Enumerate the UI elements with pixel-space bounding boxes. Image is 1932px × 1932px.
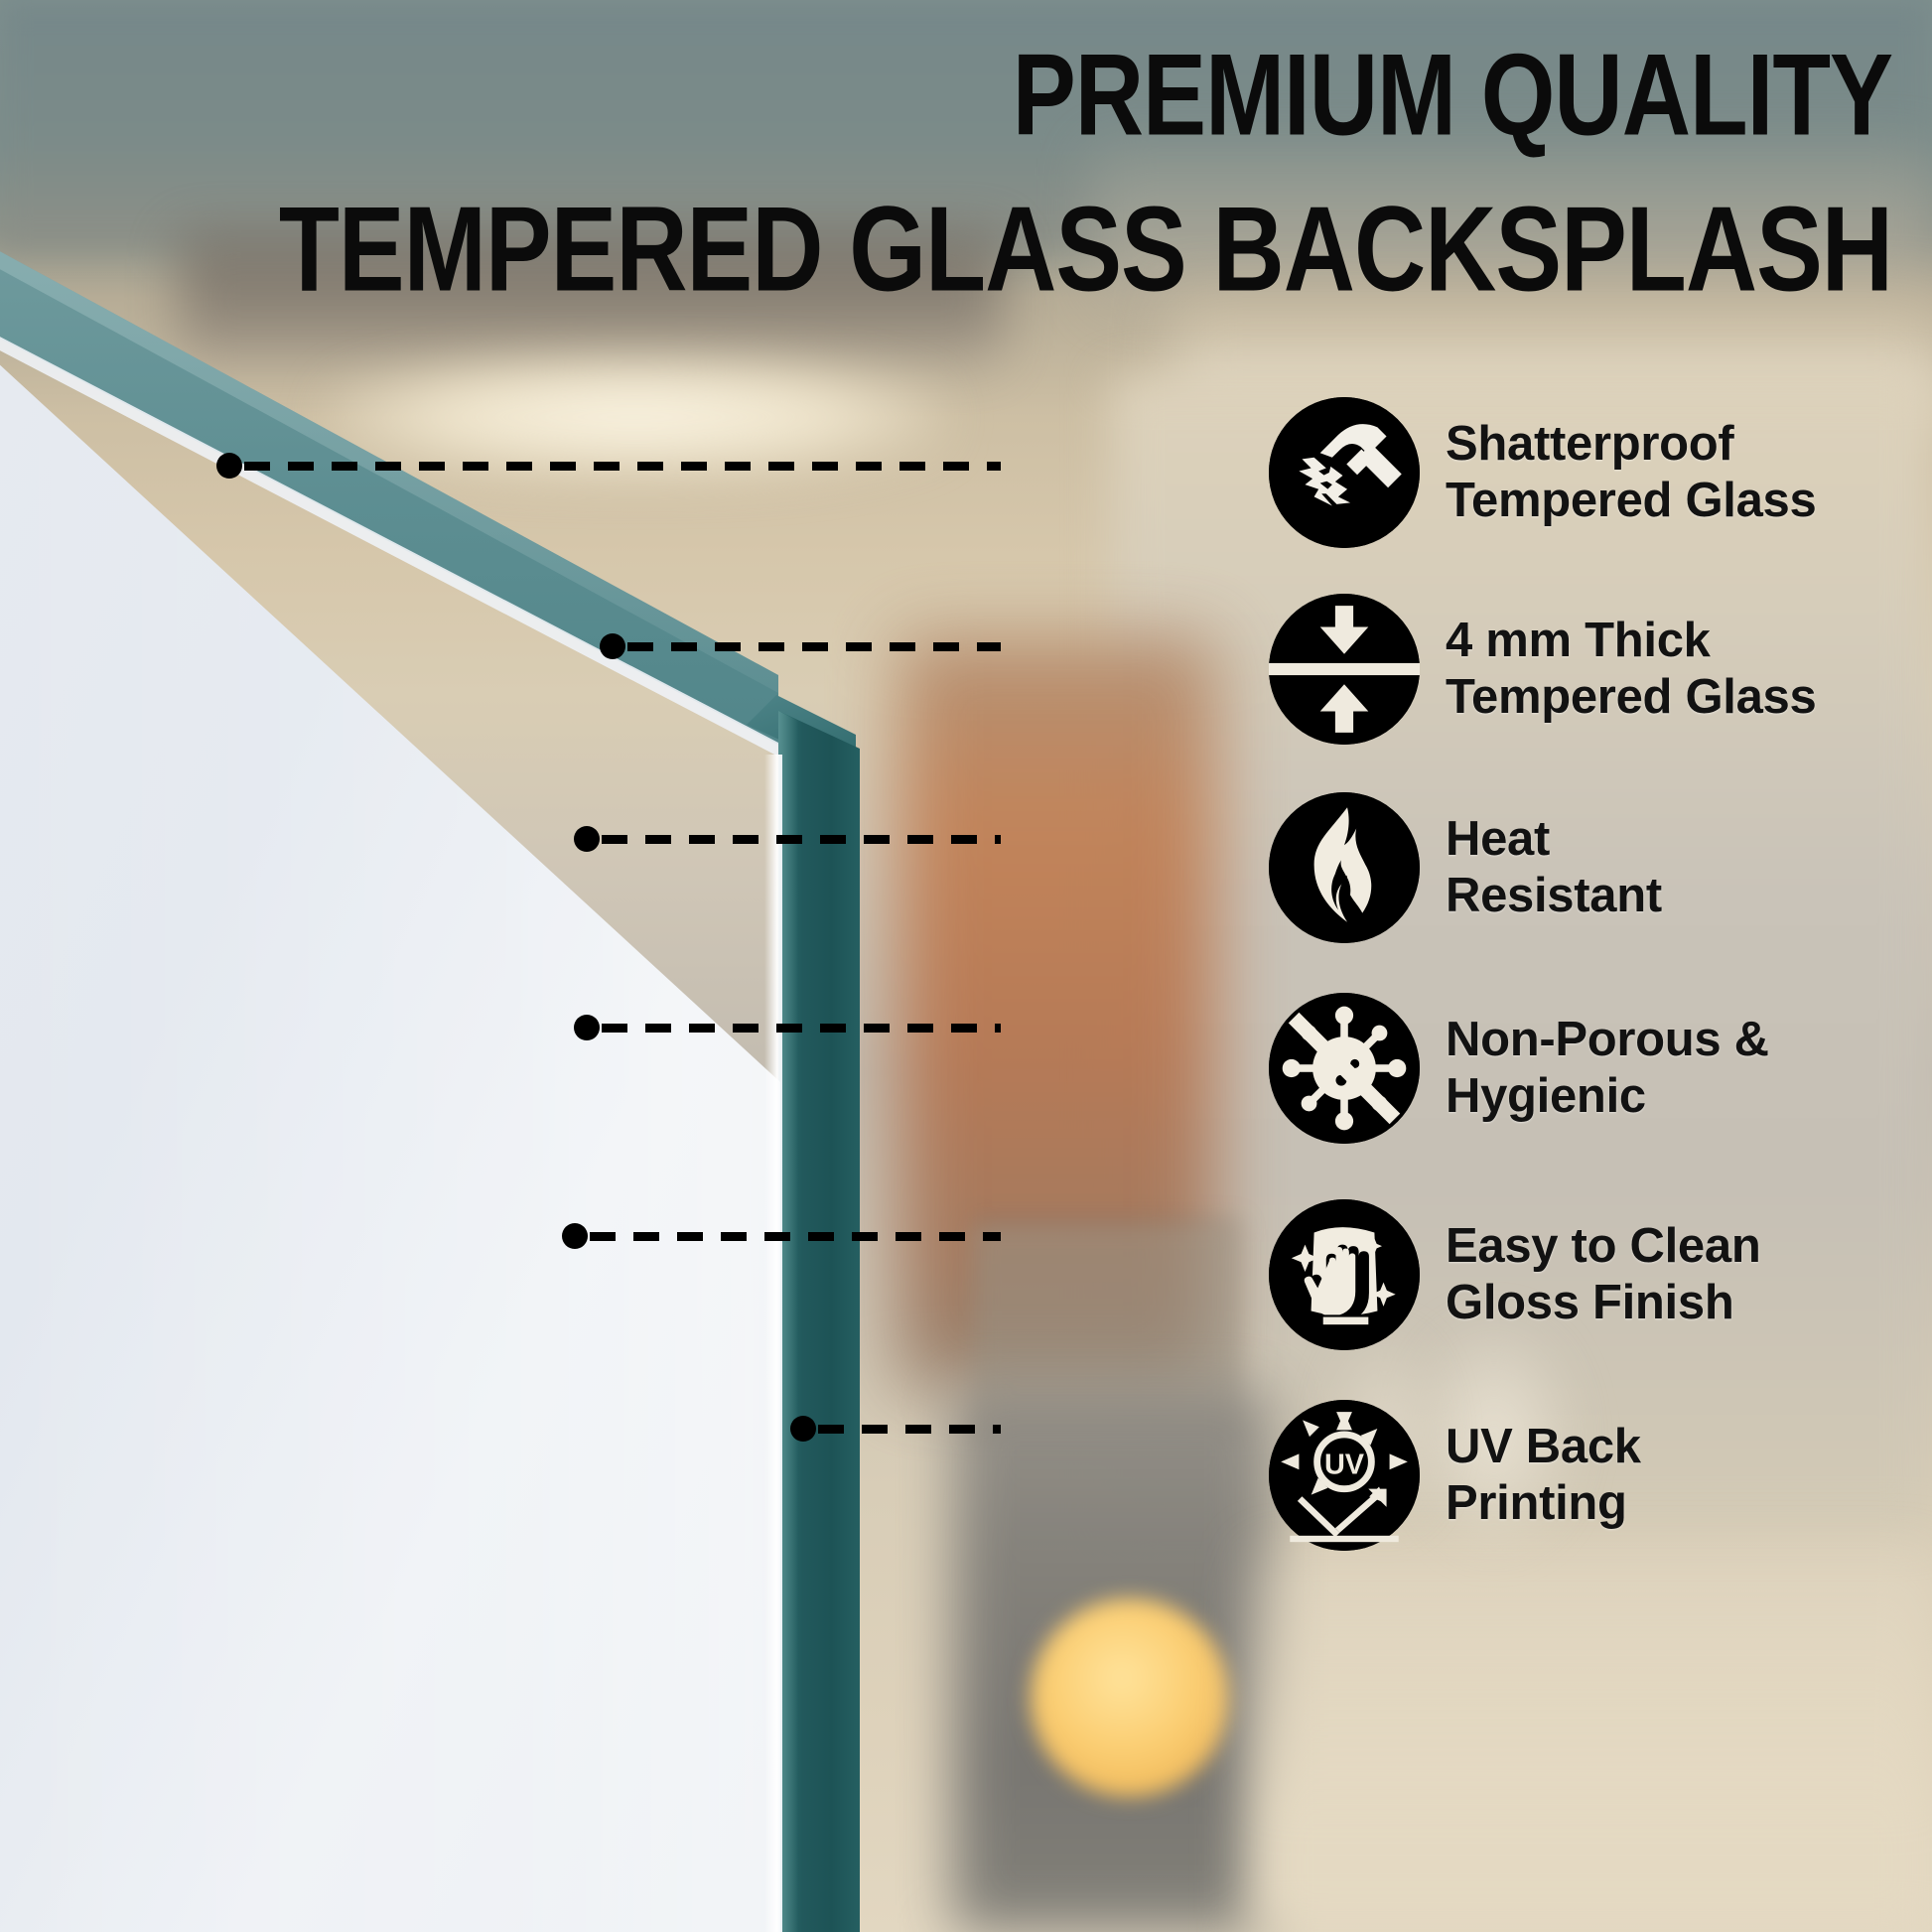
feature-label-uv: UV Back Printing: [1446, 1419, 1641, 1532]
callout-dash: [602, 1024, 1001, 1033]
feature-label-line-1: 4 mm Thick: [1446, 613, 1816, 669]
callout-dot: [562, 1223, 588, 1249]
feature-label-line-2: Gloss Finish: [1446, 1275, 1760, 1331]
callout-dot: [574, 1015, 600, 1040]
headline-line-2: TEMPERED GLASS BACKSPLASH: [0, 189, 1932, 310]
feature-label-line-2: Resistant: [1446, 868, 1662, 924]
feature-label-line-1: Shatterproof: [1446, 416, 1816, 473]
callout-dash: [602, 835, 1001, 844]
callout-heat: [574, 832, 1001, 846]
feature-label-line-1: Non-Porous &: [1446, 1012, 1769, 1068]
callout-hygienic: [574, 1021, 1001, 1035]
feature-label-line-2: Printing: [1446, 1475, 1641, 1532]
hammer-shatterproof-icon: [1269, 397, 1420, 548]
feature-item-hygienic: Non-Porous & Hygienic: [1269, 993, 1769, 1144]
headline-block: PREMIUM QUALITY TEMPERED GLASS BACKSPLAS…: [0, 0, 1932, 288]
feature-item-uv: UV UV Back Printing: [1269, 1400, 1641, 1551]
thickness-arrows-icon: [1269, 594, 1420, 745]
feature-label-thickness: 4 mm Thick Tempered Glass: [1446, 613, 1816, 726]
callout-dash: [627, 642, 1001, 651]
feature-label-hygienic: Non-Porous & Hygienic: [1446, 1012, 1769, 1125]
feature-label-easy-clean: Easy to Clean Gloss Finish: [1446, 1218, 1760, 1331]
callout-dash: [590, 1232, 1001, 1241]
callout-easy-clean: [562, 1229, 1001, 1243]
callout-dash: [244, 462, 1001, 471]
hand-wipe-sparkle-icon: [1269, 1199, 1420, 1350]
feature-item-heat: Heat Resistant: [1269, 792, 1662, 943]
feature-label-heat: Heat Resistant: [1446, 811, 1662, 924]
callout-dot: [790, 1416, 816, 1442]
uv-sun-reflect-icon: UV: [1269, 1400, 1420, 1551]
feature-label-shatterproof: Shatterproof Tempered Glass: [1446, 416, 1816, 529]
callout-uv: [790, 1422, 1001, 1436]
feature-label-line-1: Easy to Clean: [1446, 1218, 1760, 1275]
feature-label-line-2: Hygienic: [1446, 1068, 1769, 1125]
headline-line-1: PREMIUM QUALITY: [0, 38, 1932, 154]
callout-dash: [818, 1425, 1001, 1434]
feature-label-line-1: UV Back: [1446, 1419, 1641, 1475]
callout-dot: [216, 453, 242, 479]
uv-icon-label: UV: [1324, 1449, 1365, 1480]
feature-item-thickness: 4 mm Thick Tempered Glass: [1269, 594, 1816, 745]
feature-item-shatterproof: Shatterproof Tempered Glass: [1269, 397, 1816, 548]
feature-label-line-2: Tempered Glass: [1446, 669, 1816, 726]
feature-label-line-2: Tempered Glass: [1446, 473, 1816, 529]
flame-icon: [1269, 792, 1420, 943]
feature-label-line-1: Heat: [1446, 811, 1662, 868]
callout-dot: [574, 826, 600, 852]
callout-shatterproof: [216, 459, 1001, 473]
feature-item-easy-clean: Easy to Clean Gloss Finish: [1269, 1199, 1760, 1350]
germ-blocked-icon: [1269, 993, 1420, 1144]
callout-thickness: [600, 639, 1001, 653]
callout-dot: [600, 633, 625, 659]
glass-side-glint: [764, 755, 782, 1932]
